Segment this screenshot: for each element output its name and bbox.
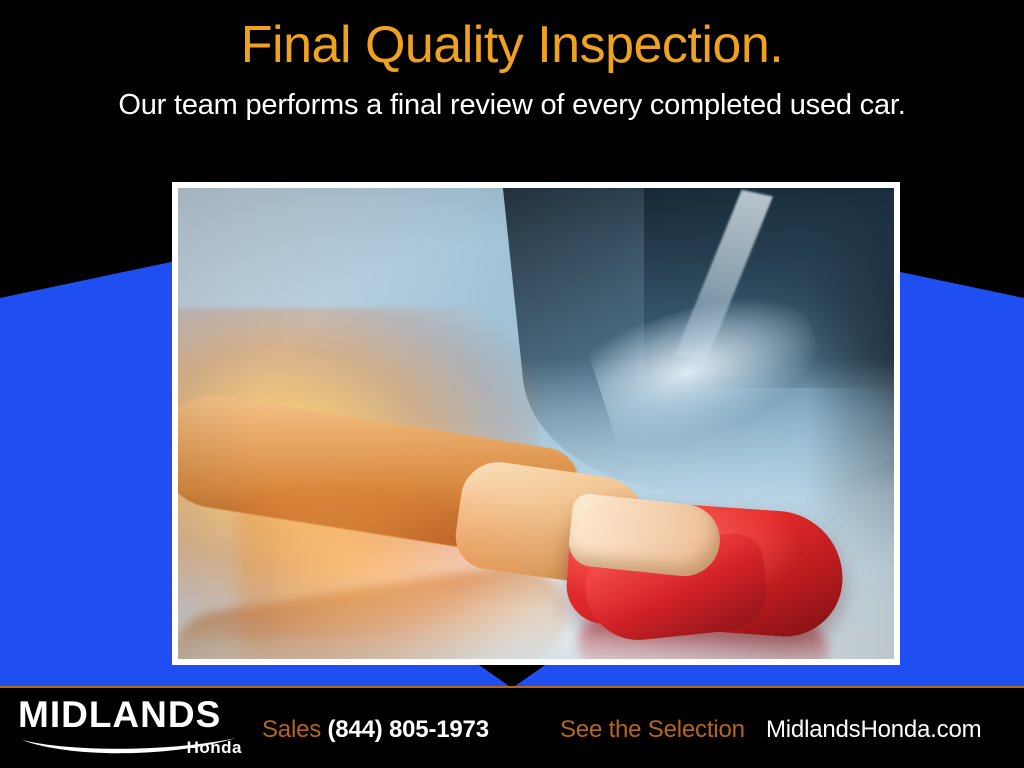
cta-label[interactable]: See the Selection [560, 716, 745, 744]
footer-bar: MIDLANDS Honda Sales (844) 805-1973 See … [0, 686, 1024, 768]
sales-phone-number[interactable]: (844) 805-1973 [328, 716, 489, 743]
sales-phone-block[interactable]: Sales (844) 805-1973 [262, 716, 489, 744]
website-url[interactable]: MidlandsHonda.com [766, 716, 981, 744]
advertisement-banner: Final Quality Inspection. Our team perfo… [0, 0, 1024, 768]
brand-logo-name: MIDLANDS [18, 696, 248, 734]
hero-photo [178, 188, 894, 659]
page-title: Final Quality Inspection. [0, 16, 1024, 74]
page-subtitle: Our team performs a final review of ever… [0, 88, 1024, 122]
brand-logo[interactable]: MIDLANDS Honda [18, 696, 248, 734]
photo-frame [172, 182, 900, 665]
brand-logo-subname: Honda [187, 738, 242, 758]
photo-vignette [178, 188, 894, 659]
sales-label: Sales [262, 716, 321, 743]
